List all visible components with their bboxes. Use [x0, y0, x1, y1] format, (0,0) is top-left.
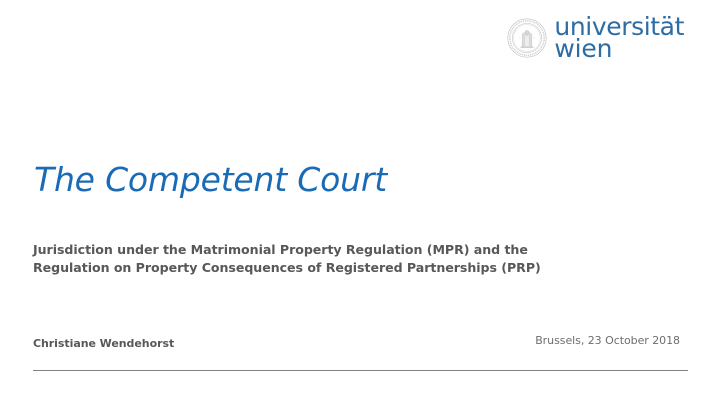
slide-title: The Competent Court [34, 160, 674, 199]
university-logo: universität wien [507, 16, 684, 59]
university-wordmark: universität wien [554, 16, 684, 59]
university-of-vienna-seal-icon [507, 18, 547, 58]
presenter-name: Christiane Wendehorst [33, 337, 174, 350]
wordmark-line-wien: wien [554, 38, 684, 60]
slide-subtitle: Jurisdiction under the Matrimonial Prope… [33, 241, 683, 277]
subtitle-line-1: Jurisdiction under the Matrimonial Prope… [33, 241, 683, 259]
event-location-date: Brussels, 23 October 2018 [535, 334, 680, 347]
presentation-slide: universität wien The Competent Court Jur… [0, 0, 720, 405]
footer-divider [33, 370, 688, 371]
subtitle-line-2: Regulation on Property Consequences of R… [33, 259, 683, 277]
